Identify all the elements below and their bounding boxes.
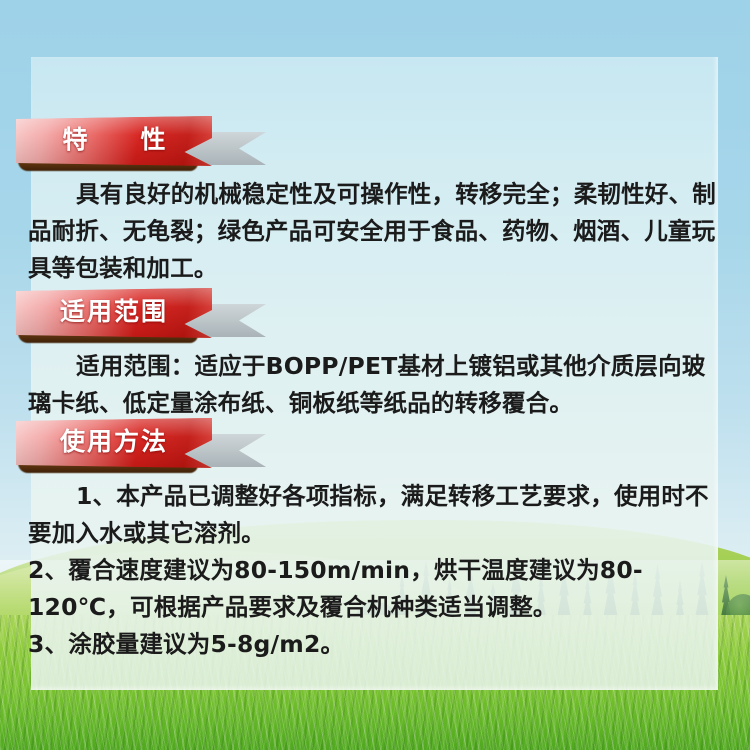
section-ribbon-features: 特 性	[16, 116, 234, 172]
ribbon-label-features: 特 性	[16, 116, 248, 166]
section-body-usage: 1、本产品已调整好各项指标，满足转移工艺要求，使用时不要加入水或其它溶剂。 2、…	[28, 478, 728, 663]
section-ribbon-usage: 使用方法	[16, 418, 234, 474]
ribbon-label-scope: 适用范围	[16, 288, 242, 338]
section-ribbon-scope: 适用范围	[16, 288, 234, 344]
section-body-scope: 适用范围：适应于BOPP/PET基材上镀铝或其他介质层向玻璃卡纸、低定量涂布纸、…	[28, 348, 728, 422]
product-info-poster: 特 性 具有良好的机械稳定性及可操作性，转移完全；柔韧性好、制品耐折、无龟裂；绿…	[0, 0, 750, 750]
ribbon-label-usage: 使用方法	[16, 418, 242, 468]
section-body-features: 具有良好的机械稳定性及可操作性，转移完全；柔韧性好、制品耐折、无龟裂；绿色产品可…	[28, 176, 728, 287]
